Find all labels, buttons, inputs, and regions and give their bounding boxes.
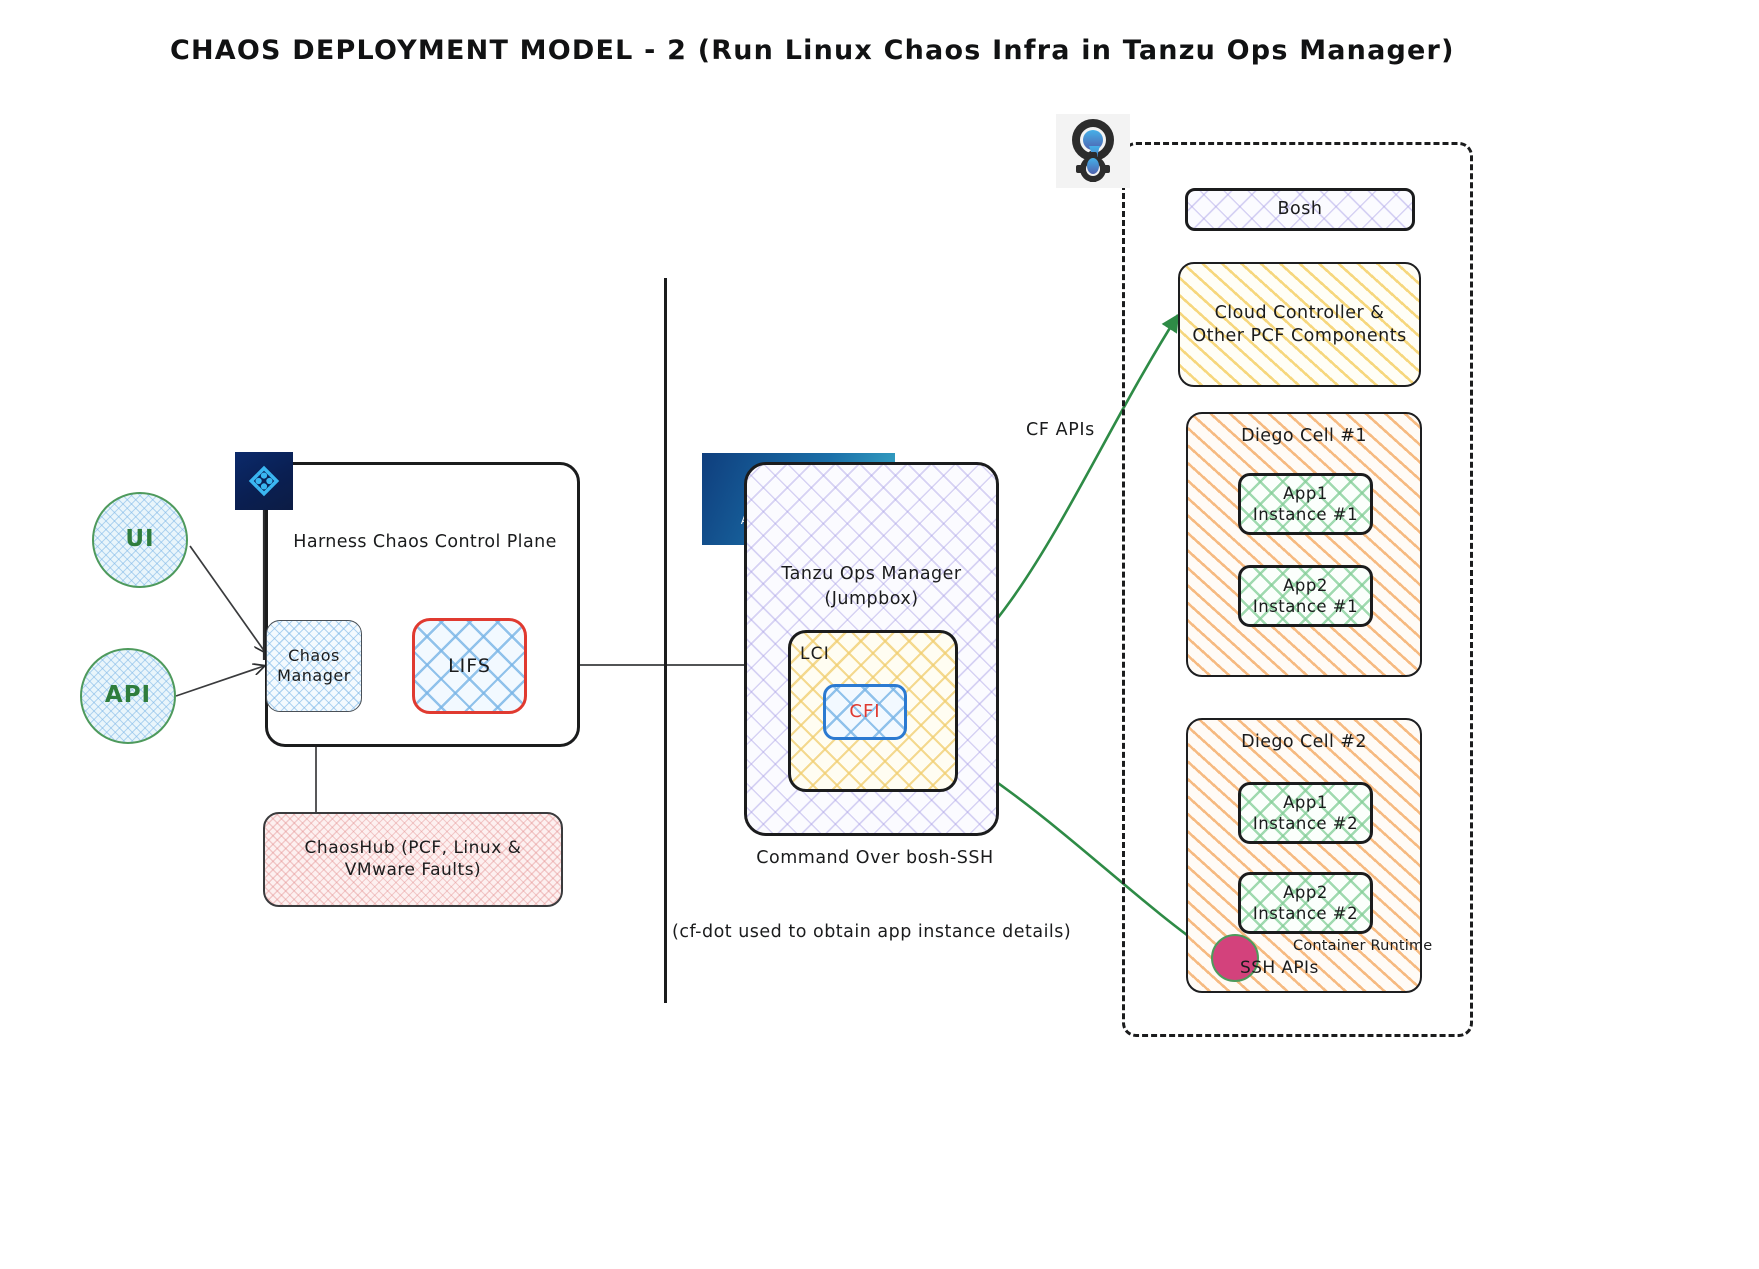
cloud-foundry-icon <box>1056 114 1130 188</box>
app1-instance1-line2: Instance #1 <box>1253 504 1358 525</box>
bosh-box[interactable]: Bosh <box>1185 188 1415 231</box>
cloud-controller-box[interactable]: Cloud Controller & Other PCF Components <box>1178 262 1421 387</box>
app2-instance1-line1: App2 <box>1253 575 1358 596</box>
edge-ui-to-chaos-manager <box>190 546 265 652</box>
chaos-manager-box[interactable]: Chaos Manager <box>266 620 362 712</box>
diego-cell-1-box <box>1186 412 1422 677</box>
app1-instance2-line2: Instance #2 <box>1253 813 1358 834</box>
harness-diamond-icon <box>247 464 281 498</box>
ui-circle[interactable]: UI <box>92 492 188 588</box>
container-runtime-label: Container Runtime <box>1293 938 1432 954</box>
chaos-manager-label-line1: Chaos <box>277 646 351 666</box>
diego-cell-2-label: Diego Cell #2 <box>1186 732 1422 752</box>
app1-instance1-line1: App1 <box>1253 483 1358 504</box>
cfi-box[interactable]: CFI <box>823 684 907 740</box>
ops-manager-label-line1: Tanzu Ops Manager <box>750 562 993 587</box>
app2-instance2-line2: Instance #2 <box>1253 903 1358 924</box>
vertical-divider <box>664 278 667 1003</box>
app2-instance1-line2: Instance #1 <box>1253 596 1358 617</box>
cfdot-caption: (cf-dot used to obtain app instance deta… <box>672 922 1112 942</box>
app2-instance1-box[interactable]: App2 Instance #1 <box>1238 565 1373 627</box>
chaos-manager-label-line2: Manager <box>277 666 351 686</box>
ops-manager-label: Tanzu Ops Manager (Jumpbox) <box>750 562 993 613</box>
cloud-controller-label-line1: Cloud Controller & <box>1192 302 1406 324</box>
ops-manager-label-line2: (Jumpbox) <box>750 587 993 612</box>
lci-label: LCI <box>800 644 830 664</box>
app1-instance2-line1: App1 <box>1253 792 1358 813</box>
app1-instance2-box[interactable]: App1 Instance #2 <box>1238 782 1373 844</box>
cf-apis-label: CF APIs <box>1026 420 1095 440</box>
chaoshub-label-line2: VMware Faults) <box>305 860 522 882</box>
app2-instance2-box[interactable]: App2 Instance #2 <box>1238 872 1373 934</box>
page-title: CHAOS DEPLOYMENT MODEL - 2 (Run Linux Ch… <box>170 35 1455 66</box>
ssh-apis-label: SSH APIs <box>1240 958 1319 978</box>
control-plane-label: Harness Chaos Control Plane <box>285 532 565 552</box>
command-over-bosh-ssh-caption: Command Over bosh-SSH <box>730 848 1020 868</box>
app1-instance1-box[interactable]: App1 Instance #1 <box>1238 473 1373 535</box>
cloud-foundry-logo <box>1056 114 1130 188</box>
harness-logo <box>235 452 293 510</box>
chaoshub-box[interactable]: ChaosHub (PCF, Linux & VMware Faults) <box>263 812 563 907</box>
lifs-box[interactable]: LIFS <box>412 618 527 714</box>
diego-cell-1-label: Diego Cell #1 <box>1186 426 1422 446</box>
app2-instance2-line1: App2 <box>1253 882 1358 903</box>
chaoshub-label-line1: ChaosHub (PCF, Linux & <box>305 838 522 860</box>
api-circle[interactable]: API <box>80 648 176 744</box>
cloud-controller-label-line2: Other PCF Components <box>1192 325 1406 347</box>
edge-api-to-chaos-manager <box>176 666 264 696</box>
